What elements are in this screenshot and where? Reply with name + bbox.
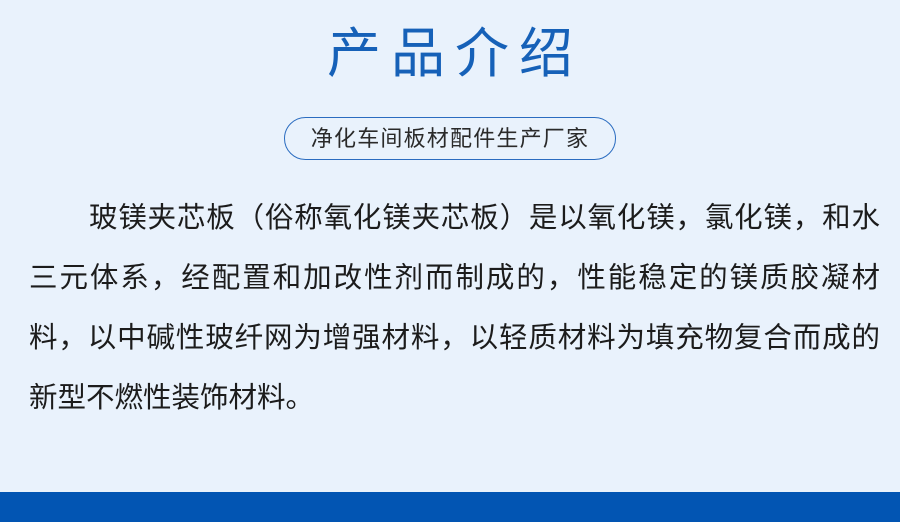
page-title: 产品介绍 <box>0 0 900 87</box>
body-container: 玻镁夹芯板（俗称氧化镁夹芯板）是以氧化镁，氯化镁，和水三元体系，经配置和加改性剂… <box>29 188 880 428</box>
product-introduction-banner: 产品介绍 净化车间板材配件生产厂家 玻镁夹芯板（俗称氧化镁夹芯板）是以氧化镁，氯… <box>0 0 900 522</box>
subtitle-pill-badge: 净化车间板材配件生产厂家 <box>284 117 616 160</box>
subtitle-container: 净化车间板材配件生产厂家 <box>0 117 900 160</box>
header: 产品介绍 <box>0 0 900 87</box>
footer-accent-bar <box>0 492 900 522</box>
product-description-paragraph: 玻镁夹芯板（俗称氧化镁夹芯板）是以氧化镁，氯化镁，和水三元体系，经配置和加改性剂… <box>29 188 880 428</box>
